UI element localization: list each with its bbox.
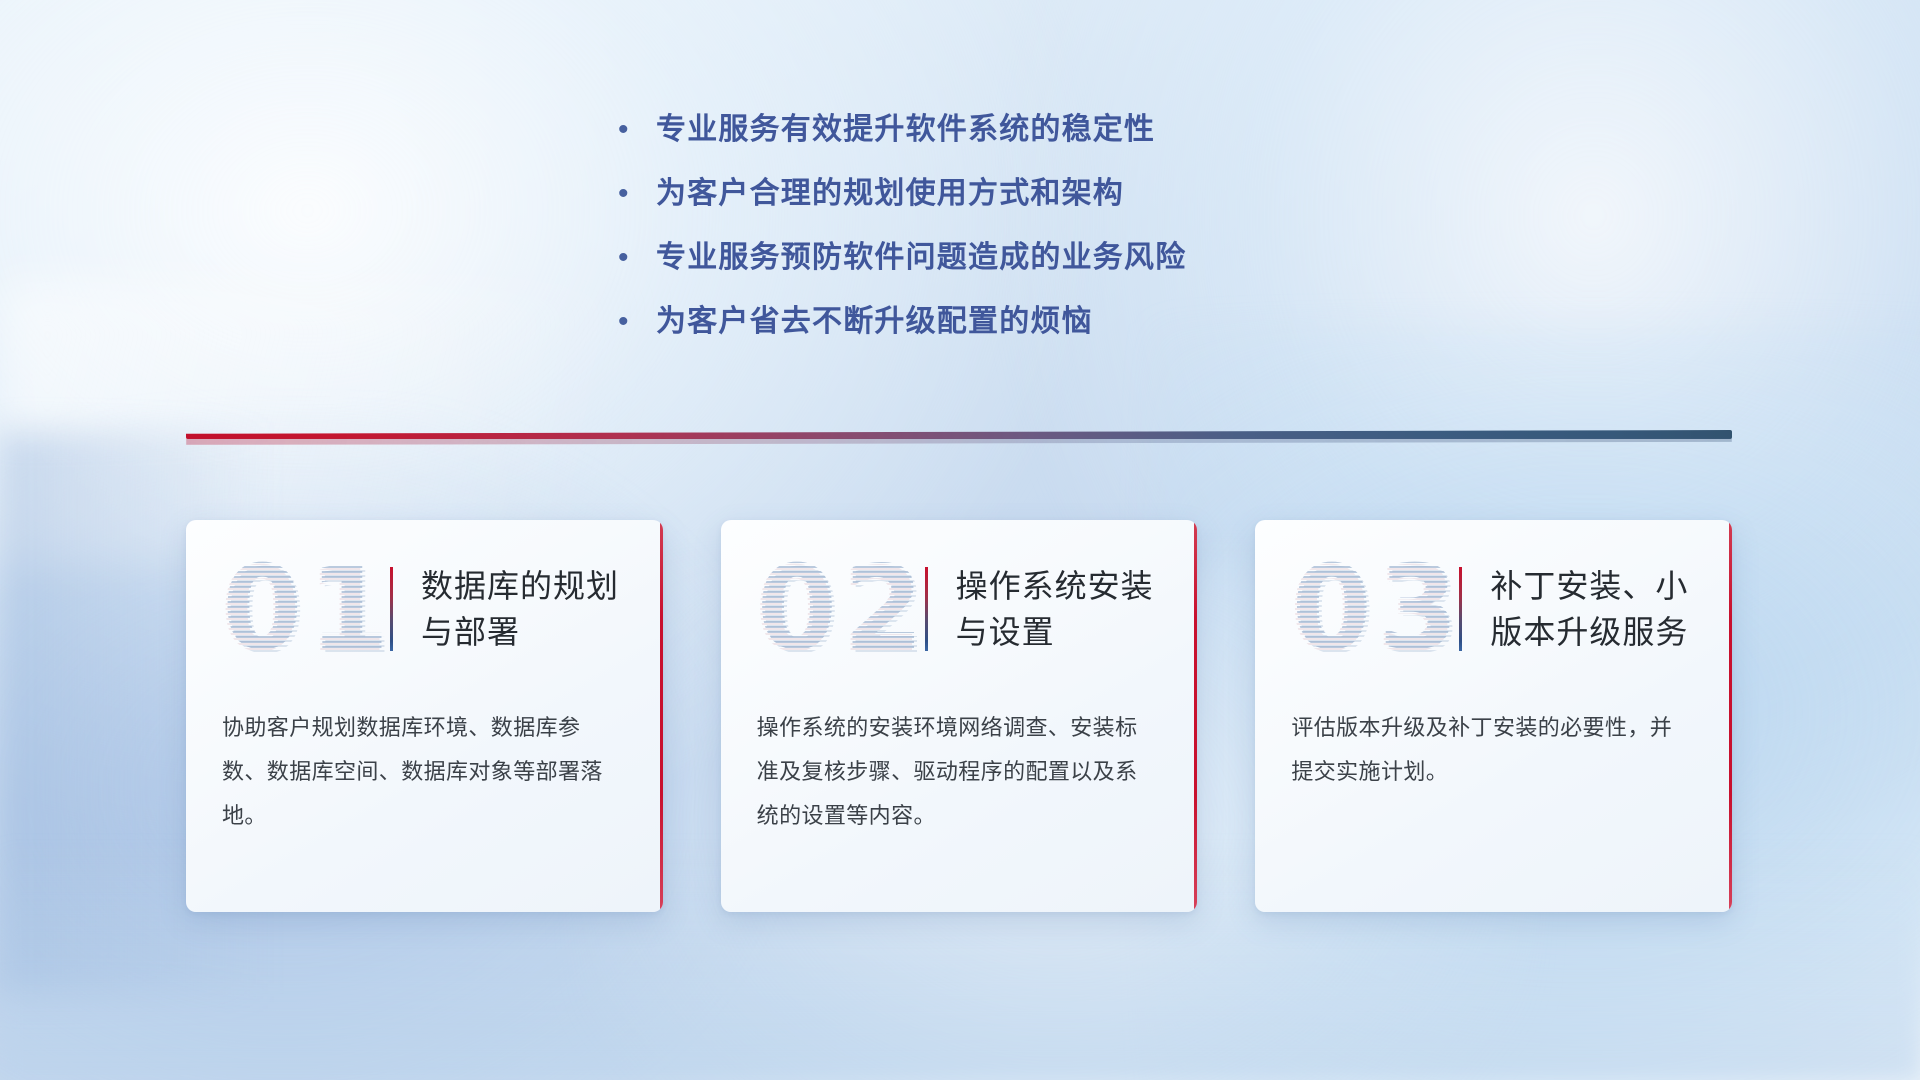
card-number-watermark: 02 02 02	[757, 546, 919, 672]
bullet-list: • 专业服务有效提升软件系统的稳定性 • 为客户合理的规划使用方式和架构 • 专…	[0, 110, 1920, 366]
bullet-text: 为客户省去不断升级配置的烦恼	[656, 302, 1093, 342]
card-title-accent-bar	[390, 567, 393, 651]
service-card-list: 01 01 01 数据库的规划 与部署 协助客户规划数据库环境、数据库参数、数据…	[186, 520, 1732, 920]
card-number-watermark: 01 01 01	[222, 546, 384, 672]
divider-blade-lower	[186, 438, 1732, 445]
card-number-text: 01	[222, 546, 384, 672]
bullet-text: 专业服务有效提升软件系统的稳定性	[656, 110, 1155, 150]
bullet-marker-icon: •	[610, 110, 656, 150]
card-body-text: 评估版本升级及补丁安装的必要性，并提交实施计划。	[1255, 698, 1732, 794]
service-card-01[interactable]: 01 01 01 数据库的规划 与部署 协助客户规划数据库环境、数据库参数、数据…	[186, 520, 663, 912]
bullet-marker-icon: •	[610, 238, 656, 278]
bullet-marker-icon: •	[610, 302, 656, 342]
bullet-marker-icon: •	[610, 174, 656, 214]
list-item: • 专业服务有效提升软件系统的稳定性	[610, 110, 1310, 174]
section-divider	[186, 430, 1732, 448]
card-body-text: 协助客户规划数据库环境、数据库参数、数据库空间、数据库对象等部署落地。	[186, 698, 663, 838]
card-title: 数据库的规划 与部署	[421, 563, 619, 655]
service-card-03[interactable]: 03 03 03 补丁安装、小 版本升级服务 评估版本升级及补丁安装的必要性，并…	[1255, 520, 1732, 912]
card-header: 01 01 01 数据库的规划 与部署	[186, 520, 663, 698]
list-item: • 为客户合理的规划使用方式和架构	[610, 174, 1310, 238]
card-number-text: 03	[1291, 546, 1453, 672]
card-body-text: 操作系统的安装环境网络调查、安装标准及复核步骤、驱动程序的配置以及系统的设置等内…	[721, 698, 1198, 838]
bullet-text: 专业服务预防软件问题造成的业务风险	[656, 238, 1186, 278]
card-title-accent-bar	[1459, 567, 1462, 651]
divider-blade-upper	[186, 430, 1732, 439]
list-item: • 专业服务预防软件问题造成的业务风险	[610, 238, 1310, 302]
bullet-text: 为客户合理的规划使用方式和架构	[656, 174, 1124, 214]
card-number-text: 02	[757, 546, 919, 672]
card-header: 02 02 02 操作系统安装 与设置	[721, 520, 1198, 698]
card-header: 03 03 03 补丁安装、小 版本升级服务	[1255, 520, 1732, 698]
list-item: • 为客户省去不断升级配置的烦恼	[610, 302, 1310, 366]
card-title: 操作系统安装 与设置	[956, 563, 1154, 655]
card-title-accent-bar	[925, 567, 928, 651]
service-card-02[interactable]: 02 02 02 操作系统安装 与设置 操作系统的安装环境网络调查、安装标准及复…	[721, 520, 1198, 912]
card-number-watermark: 03 03 03	[1291, 546, 1453, 672]
card-title: 补丁安装、小 版本升级服务	[1490, 563, 1688, 655]
